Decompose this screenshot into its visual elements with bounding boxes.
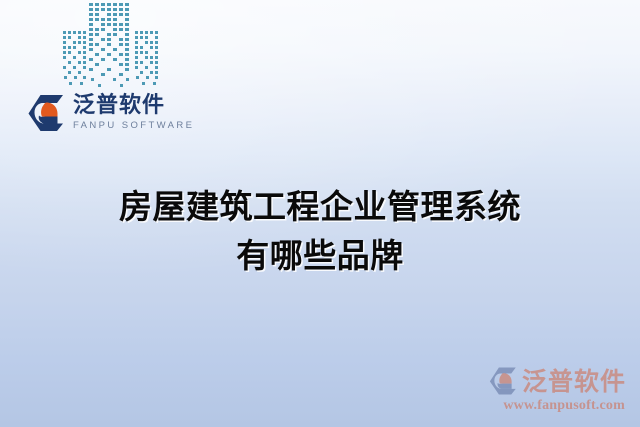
- fanpu-logo-icon: [26, 93, 66, 133]
- page-title-line-1: 房屋建筑工程企业管理系统: [0, 182, 640, 231]
- brand-text: 泛普软件 FANPU SOFTWARE: [73, 95, 194, 131]
- fanpu-watermark-logo-icon: [488, 366, 518, 396]
- brand-name-cn: 泛普软件: [73, 95, 194, 117]
- page-title: 房屋建筑工程企业管理系统 有哪些品牌: [0, 182, 640, 280]
- watermark-url: www.fanpusoft.com: [503, 399, 625, 413]
- promo-banner: 泛普软件 FANPU SOFTWARE 房屋建筑工程企业管理系统 有哪些品牌 泛…: [0, 0, 640, 427]
- brand-logo: 泛普软件 FANPU SOFTWARE: [26, 93, 194, 133]
- pixel-buildings-icon: [58, 0, 162, 92]
- brand-name-en: FANPU SOFTWARE: [73, 121, 194, 131]
- watermark-row: 泛普软件: [488, 366, 626, 396]
- watermark: 泛普软件 www.fanpusoft.com: [488, 366, 626, 413]
- page-title-line-2: 有哪些品牌: [0, 231, 640, 280]
- watermark-name-cn: 泛普软件: [522, 369, 626, 394]
